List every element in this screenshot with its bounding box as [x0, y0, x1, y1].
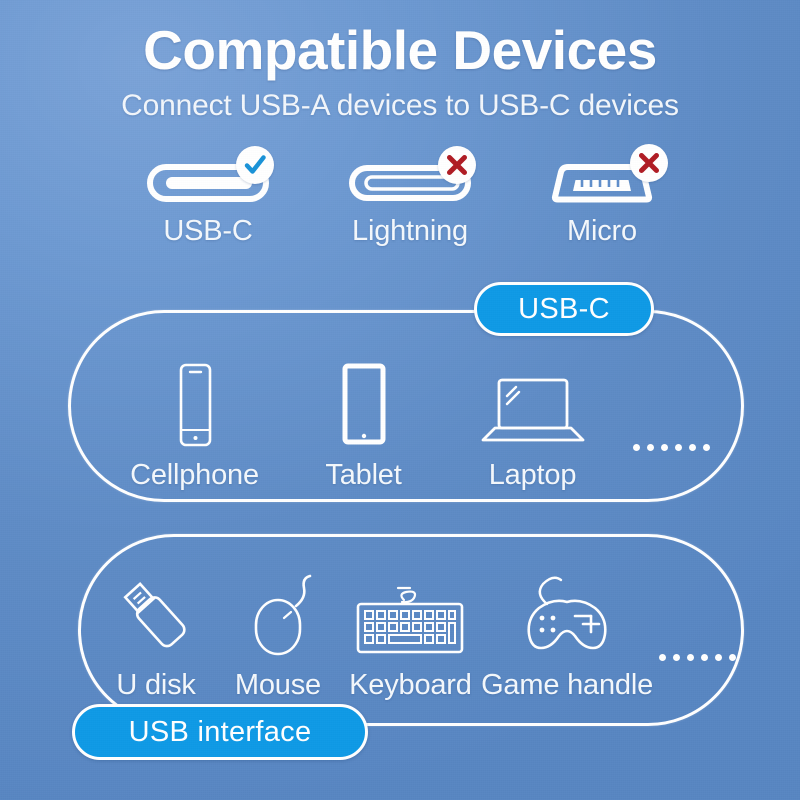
device-label-u-disk: U disk — [96, 668, 216, 702]
group-pill-usb-interface-label: USB interface — [129, 716, 312, 749]
cross-icon — [445, 153, 469, 177]
device-label-keyboard: Keyboard — [340, 668, 481, 702]
gamepad-art — [481, 568, 653, 658]
device-label-laptop: Laptop — [448, 458, 617, 492]
usb-interface-device-list: U disk Mouse — [96, 568, 736, 702]
laptop-art — [448, 358, 617, 448]
micro-usb-connector-art — [502, 148, 702, 210]
device-label-mouse: Mouse — [216, 668, 340, 702]
cross-badge-icon — [630, 144, 668, 182]
group-pill-usb-c-label: USB-C — [518, 293, 610, 326]
device-item-laptop[interactable]: Laptop — [448, 358, 617, 492]
connector-item-usb-c: USB-C — [108, 148, 308, 248]
usb-flash-drive-icon — [113, 572, 199, 658]
header: Compatible Devices Connect USB-A devices… — [0, 18, 800, 126]
page-subtitle: Connect USB-A devices to USB-C devices — [0, 86, 800, 126]
ellipsis-dots-icon — [633, 402, 710, 492]
mouse-icon — [236, 572, 320, 658]
cellphone-art — [110, 358, 279, 448]
lightning-connector-icon — [310, 148, 510, 210]
connector-label-lightning: Lightning — [310, 214, 510, 248]
connector-label-usb-c: USB-C — [108, 214, 308, 248]
check-icon — [242, 152, 268, 178]
cross-badge-icon — [438, 146, 476, 184]
connector-item-micro: Micro — [502, 148, 702, 248]
connector-item-lightning: Lightning — [310, 148, 510, 248]
device-item-u-disk[interactable]: U disk — [96, 568, 216, 702]
device-label-game-handle: Game handle — [481, 668, 653, 702]
connector-compatibility-row: USB-C Lightning — [0, 148, 800, 268]
check-badge-icon — [236, 146, 274, 184]
tablet-icon — [332, 362, 396, 448]
device-label-tablet: Tablet — [279, 458, 448, 492]
usb-c-connector-icon — [108, 148, 308, 210]
device-item-keyboard[interactable]: Keyboard — [340, 568, 481, 702]
laptop-icon — [477, 362, 589, 448]
group-pill-usb-c[interactable]: USB-C — [474, 282, 654, 336]
lightning-connector-art — [310, 148, 510, 210]
tablet-art — [279, 358, 448, 448]
device-item-cellphone[interactable]: Cellphone — [110, 358, 279, 492]
keyboard-icon — [348, 572, 472, 658]
gamepad-icon — [509, 572, 625, 658]
mouse-art — [216, 568, 340, 658]
device-item-game-handle[interactable]: Game handle — [481, 568, 653, 702]
usb-c-connector-art — [108, 148, 308, 210]
device-item-tablet[interactable]: Tablet — [279, 358, 448, 492]
device-item-mouse[interactable]: Mouse — [216, 568, 340, 702]
ellipsis-dots-icon — [659, 612, 736, 702]
connector-label-micro: Micro — [502, 214, 702, 248]
usb-c-device-list: Cellphone Tablet Laptop — [110, 358, 710, 492]
page-title: Compatible Devices — [0, 18, 800, 82]
keyboard-art — [340, 568, 481, 658]
usb-flash-drive-art — [96, 568, 216, 658]
device-label-cellphone: Cellphone — [110, 458, 279, 492]
infographic-canvas: Compatible Devices Connect USB-A devices… — [0, 0, 800, 800]
micro-usb-connector-icon — [502, 148, 702, 210]
cellphone-icon — [164, 362, 226, 448]
group-pill-usb-interface[interactable]: USB interface — [72, 704, 368, 760]
cross-icon — [637, 151, 661, 175]
